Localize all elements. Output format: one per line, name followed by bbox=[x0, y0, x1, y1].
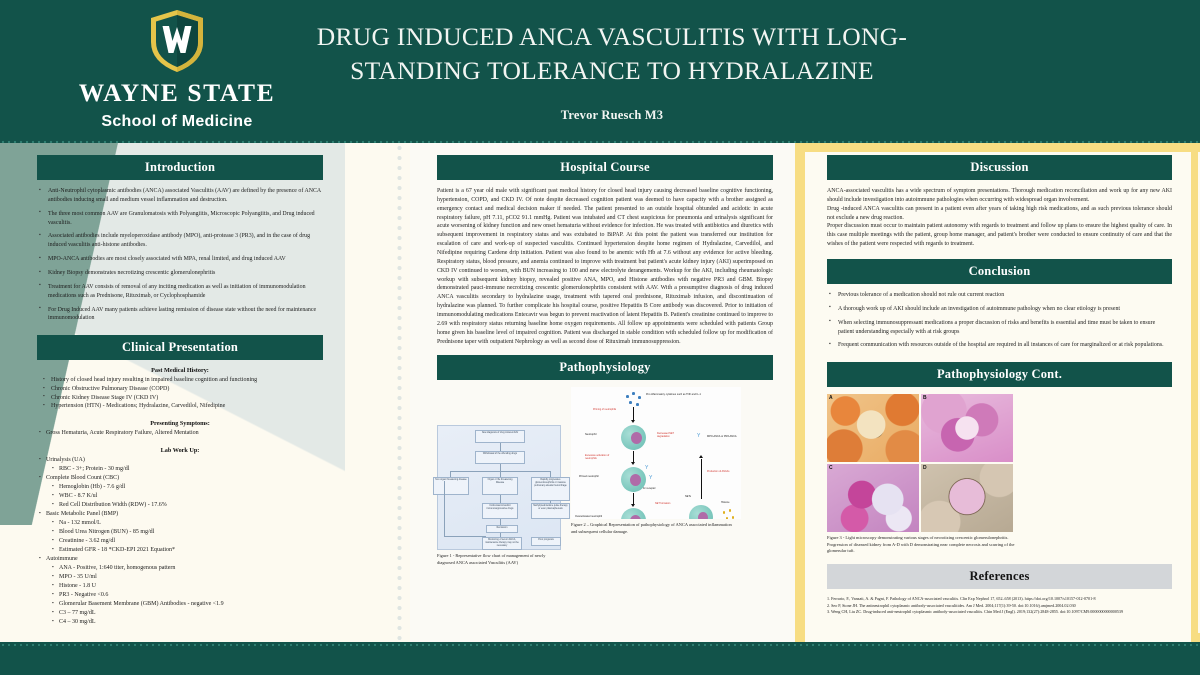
flow-node: New diagnosis of drug induced AAV bbox=[475, 430, 525, 443]
figure-2-caption: Figure 2 – Graphical Representation of p… bbox=[571, 522, 737, 535]
pmh-list: History of closed head injury resulting … bbox=[43, 376, 323, 411]
list-item: Previous tolerance of a medication shoul… bbox=[827, 291, 1172, 300]
column-left: Introduction Anti-Neutrophil cytoplasmic… bbox=[37, 155, 323, 627]
list-item: WBC - 8.7 K/ul bbox=[52, 492, 323, 501]
panel-letter: B bbox=[923, 395, 927, 401]
list-item: Chronic Obstructive Pulmonary Disease (C… bbox=[43, 385, 323, 394]
list-item: The three most common AAV are Granulomat… bbox=[37, 210, 323, 228]
discussion-paragraph-3: Proper discussion must occur to maintain… bbox=[827, 222, 1172, 249]
section-header-hospital-course: Hospital Course bbox=[437, 155, 773, 180]
figure-2-block: Pro-inflammatory cytokines such as TNF a… bbox=[571, 387, 741, 535]
list-item: Kidney Biopsy demonstrates necrotizing c… bbox=[37, 269, 323, 278]
list-item: Estimated GFR - 18 *CKD-EPI 2021 Equatio… bbox=[52, 546, 323, 555]
header-dot-rule bbox=[0, 138, 1200, 143]
column-middle: Hospital Course Patient is a 67 year old… bbox=[437, 155, 773, 566]
overactivated-neutrophil-cell bbox=[621, 508, 646, 519]
list-item: C3 – 77 mg/dL bbox=[52, 609, 323, 618]
list-item: A thorough work up of AKI should include… bbox=[827, 305, 1172, 314]
fig2-label: NET formation bbox=[655, 503, 681, 506]
figure-1-block: New diagnosis of drug induced AAV Withdr… bbox=[437, 387, 563, 566]
reference-item: 3. Weng CH, Liu ZC. Drug-induced anti-ne… bbox=[827, 609, 1172, 615]
introduction-bullets: Anti-Neutrophil cytoplasmic antibodies (… bbox=[37, 187, 323, 323]
flow-node: Rapidly progressive glomerulonephritis o… bbox=[531, 477, 570, 501]
list-item: Urinalysis (UA) bbox=[39, 456, 323, 465]
list-item: Blood Urea Nitrogen (BUN) - 85 mg/dl bbox=[52, 528, 323, 537]
figure-1-caption: Figure 1 - Representative flow chart of … bbox=[437, 553, 563, 566]
list-item: Hypertension (HTN) - Medications; Hydral… bbox=[43, 402, 323, 411]
labs-list: Urinalysis (UA) RBC - 3+; Protein - 30 m… bbox=[39, 456, 323, 627]
list-item: Red Cell Distribution Width (RDW) - 17.6… bbox=[52, 501, 323, 510]
neutrophil-cell bbox=[621, 425, 646, 450]
flow-node: Non organ threatening disease bbox=[433, 477, 469, 495]
symptoms-title: Presenting Symptoms: bbox=[37, 420, 323, 427]
discussion-paragraph-1: ANCA-associated vasculitis has a wide sp… bbox=[827, 187, 1172, 205]
section-header-references: References bbox=[827, 564, 1172, 589]
list-item: For Drug Induced AAV many patients achie… bbox=[37, 306, 323, 324]
fig2-label: Primed neutrophil bbox=[579, 475, 599, 478]
discussion-paragraph-2: Drug -induced ANCA vasculitis can presen… bbox=[827, 205, 1172, 223]
wayne-state-shield-icon bbox=[148, 8, 206, 74]
labs-title: Lab Work Up: bbox=[37, 447, 323, 454]
list-item: When selecting immunosuppressant medicat… bbox=[827, 319, 1172, 337]
list-item: MPO - 35 U/ml bbox=[52, 573, 323, 582]
flow-node: Remission bbox=[486, 525, 518, 533]
fig2-label: Decreased NET degradation bbox=[657, 433, 683, 439]
conclusion-bullets: Previous tolerance of a medication shoul… bbox=[827, 291, 1172, 350]
list-item: Histone - 1.8 U bbox=[52, 582, 323, 591]
fig2-label: Priming of neutrophils bbox=[593, 409, 621, 412]
fig2-label: MPO-ANCA or PR3-ANCA bbox=[707, 435, 739, 438]
list-item: C4 – 30 mg/dL bbox=[52, 618, 323, 627]
poster-canvas: WAYNE STATE School of Medicine DRUG INDU… bbox=[0, 0, 1200, 675]
list-item: Hemoglobin (Hb) - 7.6 g/dl bbox=[52, 483, 323, 492]
list-item: RBC - 3+; Protein - 30 mg/dl bbox=[52, 465, 323, 474]
section-header-introduction: Introduction bbox=[37, 155, 323, 180]
page-title: DRUG INDUCED ANCA VASCULITIS WITH LONG-S… bbox=[262, 20, 962, 88]
university-name: WAYNE STATE bbox=[62, 80, 292, 106]
fig2-label: Histone bbox=[721, 501, 729, 504]
poster-header: WAYNE STATE School of Medicine DRUG INDU… bbox=[0, 0, 1200, 143]
fig2-label: Fc receptor bbox=[643, 487, 656, 490]
section-header-clinical-presentation: Clinical Presentation bbox=[37, 335, 323, 360]
list-item: Gross Hematuria, Acute Respiratory Failu… bbox=[39, 429, 323, 438]
list-item: Anti-Neutrophil cytoplasmic antibodies (… bbox=[37, 187, 323, 205]
fig2-label: Overactivated neutrophil bbox=[575, 515, 602, 518]
fig2-label: Pro-inflammatory cytokines such as TNF a… bbox=[646, 393, 706, 396]
bg-gold-bar-left bbox=[795, 143, 805, 675]
poster-footer bbox=[0, 642, 1200, 675]
figure-2-diagram: Pro-inflammatory cytokines such as TNF a… bbox=[571, 387, 741, 519]
list-item: Frequent communication with resources ou… bbox=[827, 341, 1172, 350]
figure-3-caption: Figure 3 - Light microscopy demonstratin… bbox=[827, 535, 1017, 554]
list-item: Associated antibodies include myeloperox… bbox=[37, 232, 323, 250]
footer-dot-rule bbox=[0, 642, 1200, 646]
list-item: Creatinine - 3.62 mg/dl bbox=[52, 537, 323, 546]
section-header-pathophysiology: Pathophysiology bbox=[437, 355, 773, 380]
fig2-label: Production of ANCAs bbox=[707, 471, 739, 474]
list-item: Na - 132 mmol/L bbox=[52, 519, 323, 528]
panel-letter: A bbox=[829, 395, 833, 401]
flow-node: Poor prognosis bbox=[531, 537, 561, 546]
bg-gold-bar-top bbox=[795, 143, 1200, 152]
micrograph-panel-b: B bbox=[921, 394, 1013, 462]
panel-letter: D bbox=[923, 465, 927, 471]
flow-node: Corticosteroid and/or immunosuppressive … bbox=[482, 503, 518, 519]
title-block: DRUG INDUCED ANCA VASCULITIS WITH LONG-S… bbox=[262, 20, 962, 123]
micrograph-panel-d: D bbox=[921, 464, 1013, 532]
hospital-course-body: Patient is a 67 year old male with signi… bbox=[437, 187, 773, 346]
section-header-pathophysiology-cont: Pathophysiology Cont. bbox=[827, 362, 1172, 387]
fig2-label: NETs bbox=[685, 495, 691, 498]
list-item: Basic Metabolic Panel (BMP) bbox=[39, 510, 323, 519]
fig2-label: Neutrophil bbox=[585, 433, 596, 436]
list-item: PR3 - Negative <0.6 bbox=[52, 591, 323, 600]
micrograph-panel-a: A bbox=[827, 394, 919, 462]
list-item: Complete Blood Count (CBC) bbox=[39, 474, 323, 483]
list-item: Chronic Kidney Disease Stage IV (CKD IV) bbox=[43, 394, 323, 403]
fig2-label: Excessive activation of neutrophils bbox=[585, 455, 615, 461]
micrograph-panel-c: C bbox=[827, 464, 919, 532]
section-header-conclusion: Conclusion bbox=[827, 259, 1172, 284]
section-header-discussion: Discussion bbox=[827, 155, 1172, 180]
list-item: ANA - Positive, 1:640 titer, homogenous … bbox=[52, 564, 323, 573]
school-name: School of Medicine bbox=[62, 113, 292, 131]
list-item: History of closed head injury resulting … bbox=[43, 376, 323, 385]
university-logo-block: WAYNE STATE School of Medicine bbox=[62, 8, 292, 131]
flow-node: Monitoring of serum ANCA, maintenance th… bbox=[482, 537, 522, 550]
pmh-title: Past Medical History: bbox=[37, 367, 323, 374]
symptoms-list: Gross Hematuria, Acute Respiratory Failu… bbox=[39, 429, 323, 438]
flow-node: Withdrawal of the offending drugs bbox=[475, 451, 525, 464]
panel-letter: C bbox=[829, 465, 833, 471]
figure-3-micrograph-grid: A B C D bbox=[827, 394, 1172, 532]
list-item: Glomerular Basement Membrane (GBM) Antib… bbox=[52, 600, 323, 609]
flow-node: Methylprednisolone pulse therapy or even… bbox=[531, 503, 570, 519]
bg-dot-column bbox=[396, 143, 403, 675]
figure-1-flowchart: New diagnosis of drug induced AAV Withdr… bbox=[437, 425, 561, 550]
list-item: Autoimmune bbox=[39, 555, 323, 564]
column-right: Discussion ANCA-associated vasculitis ha… bbox=[827, 155, 1172, 615]
list-item: Treatment for AAV consists of removal of… bbox=[37, 283, 323, 301]
flow-node: Organ or life threatening Disease bbox=[482, 477, 518, 495]
net-cell bbox=[689, 505, 713, 519]
pathophysiology-figures: New diagnosis of drug induced AAV Withdr… bbox=[437, 387, 773, 566]
list-item: MPO-ANCA antibodies are most closely ass… bbox=[37, 255, 323, 264]
poster-author: Trevor Ruesch M3 bbox=[262, 108, 962, 123]
